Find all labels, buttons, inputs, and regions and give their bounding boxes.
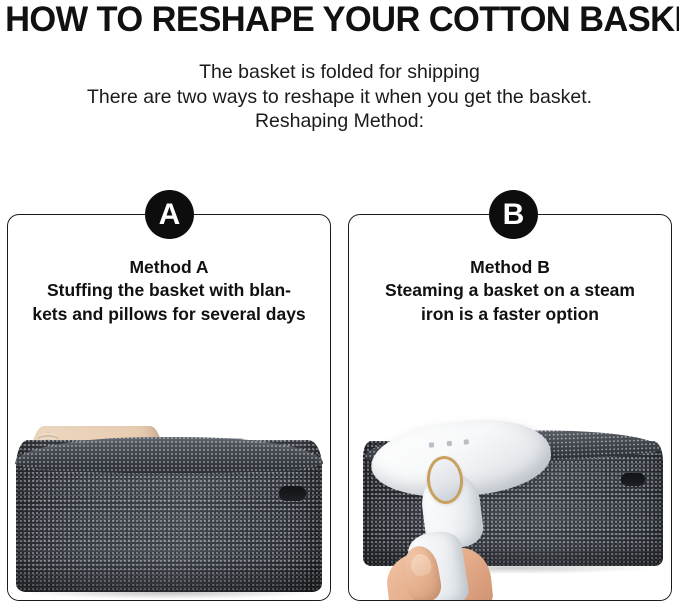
infographic-page: HOW TO RESHAPE YOUR COTTON BASKET The ba… — [0, 0, 679, 611]
method-card-b: Method B Steaming a basket on a steam ir… — [348, 214, 672, 601]
method-b-text: Method B Steaming a basket on a steam ir… — [349, 256, 671, 326]
basket-handle — [621, 473, 645, 486]
method-a-description-line-1: Stuffing the basket with blan- — [16, 279, 322, 303]
subtitle-line-3: Reshaping Method: — [0, 109, 679, 134]
page-title: HOW TO RESHAPE YOUR COTTON BASKET — [5, 0, 674, 42]
subtitle-line-2: There are two ways to reshape it when yo… — [0, 85, 679, 110]
method-a-description-line-2: kets and pillows for several days — [16, 303, 322, 327]
cotton-basket-filled — [16, 440, 322, 592]
subtitle-line-1: The basket is folded for shipping — [0, 60, 679, 85]
method-a-photo — [8, 350, 330, 600]
method-b-description-line-2: iron is a faster option — [357, 303, 663, 327]
method-b-photo — [349, 350, 671, 600]
method-cards: Method A Stuffing the basket with blan- … — [0, 214, 679, 602]
method-card-a: Method A Stuffing the basket with blan- … — [7, 214, 331, 601]
method-b-description-line-1: Steaming a basket on a steam — [357, 279, 663, 303]
method-b-badge: B — [489, 190, 538, 239]
method-a-heading: Method A — [16, 256, 322, 279]
method-a-text: Method A Stuffing the basket with blan- … — [8, 256, 330, 326]
basket-handle — [279, 486, 306, 501]
method-b-heading: Method B — [357, 256, 663, 279]
subtitle-block: The basket is folded for shipping There … — [0, 60, 679, 134]
method-a-badge: A — [145, 190, 194, 239]
handheld-steamer — [371, 412, 553, 600]
